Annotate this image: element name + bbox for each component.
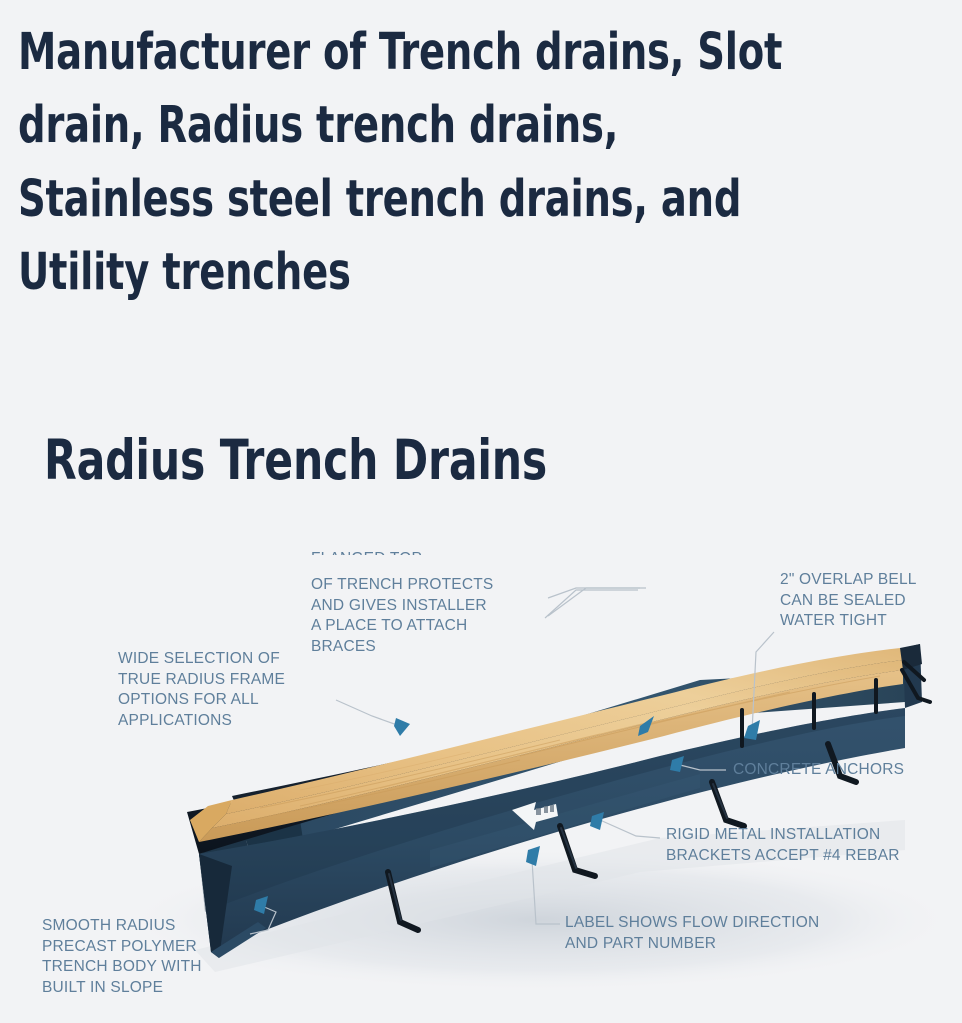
callout-installation-brackets: RIGID METAL INSTALLATION BRACKETS ACCEPT…	[666, 825, 956, 866]
hero-section: Manufacturer of Trench drains, Slot drai…	[18, 16, 948, 310]
callout-flanged-top-clipped-line: FLANGED TOP	[311, 549, 551, 555]
section-title-radius-trench-drains: Radius Trench Drains	[44, 433, 547, 488]
page-root: Manufacturer of Trench drains, Slot drai…	[0, 0, 962, 1023]
product-diagram: FLANGED TOP OF TRENCH PROTECTS AND GIVES…	[0, 520, 962, 1023]
leader-line-brackets	[600, 820, 660, 838]
marker-radius-frame	[394, 718, 410, 736]
callout-flanged-top: FLANGED TOP OF TRENCH PROTECTS AND GIVES…	[311, 528, 551, 658]
callout-precast-body: SMOOTH RADIUS PRECAST POLYMER TRENCH BOD…	[42, 916, 252, 998]
callout-flanged-top-text: OF TRENCH PROTECTS AND GIVES INSTALLER A…	[311, 576, 493, 655]
page-title: Manufacturer of Trench drains, Slot drai…	[18, 16, 799, 310]
callout-radius-frame-options: WIDE SELECTION OF TRUE RADIUS FRAME OPTI…	[118, 649, 338, 731]
leader-line-radius-frame	[336, 700, 400, 726]
callout-concrete-anchors: CONCRETE ANCHORS	[733, 760, 958, 781]
callout-overlap-bell: 2" OVERLAP BELL CAN BE SEALED WATER TIGH…	[780, 570, 960, 632]
callout-flow-label: LABEL SHOWS FLOW DIRECTION AND PART NUMB…	[565, 913, 880, 954]
